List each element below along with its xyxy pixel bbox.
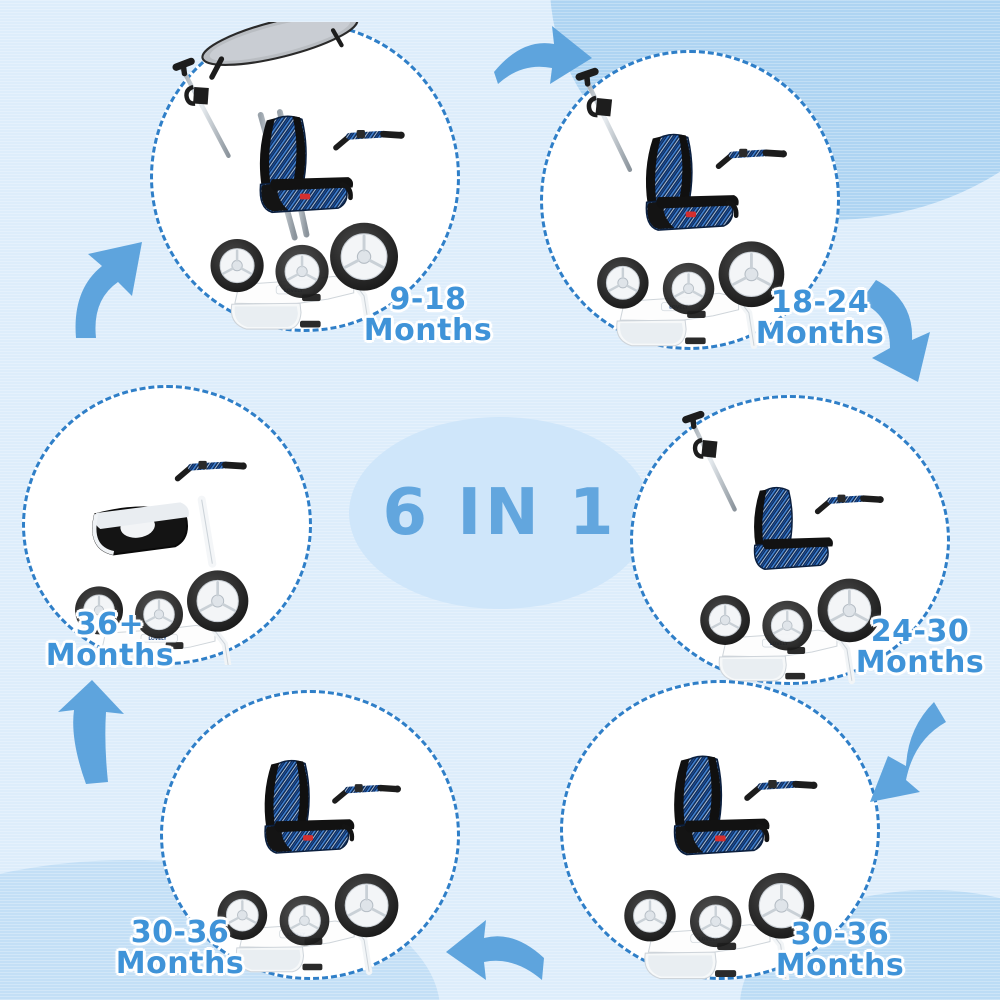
arrow-up-right-icon: [62, 238, 154, 342]
stage-label-6-unit: Months: [0, 641, 230, 672]
stage-label-1-unit: Months: [308, 316, 548, 347]
stage-label-1: 9-18 Months: [308, 285, 548, 346]
stage-label-5: 30-36 Months: [60, 918, 300, 979]
stage-label-1-age: 9-18: [308, 285, 548, 316]
stage-label-2: 18-24 Months: [700, 288, 940, 349]
stage-label-2-age: 18-24: [700, 288, 940, 319]
stage-label-4-unit: Months: [720, 951, 960, 982]
arrow-up-icon: [52, 678, 134, 788]
arrow-down-left-icon: [858, 700, 950, 808]
stage-label-5-unit: Months: [60, 949, 300, 980]
stage-label-4-age: 30-36: [720, 920, 960, 951]
stage-label-2-unit: Months: [700, 319, 940, 350]
stage-label-3-age: 24-30: [820, 617, 1000, 648]
stage-label-6-age: 36+: [0, 610, 230, 641]
stage-label-3: 24-30 Months: [820, 617, 1000, 678]
arrow-left-icon: [440, 918, 548, 996]
arrow-right-icon: [492, 18, 596, 104]
stage-label-5-age: 30-36: [60, 918, 300, 949]
poster-canvas: 6 IN 1: [0, 0, 1000, 1000]
stage-label-6: 36+ Months: [0, 610, 230, 671]
stage-label-4: 30-36 Months: [720, 920, 960, 981]
center-title: 6 IN 1: [349, 417, 651, 609]
stage-label-3-unit: Months: [820, 648, 1000, 679]
